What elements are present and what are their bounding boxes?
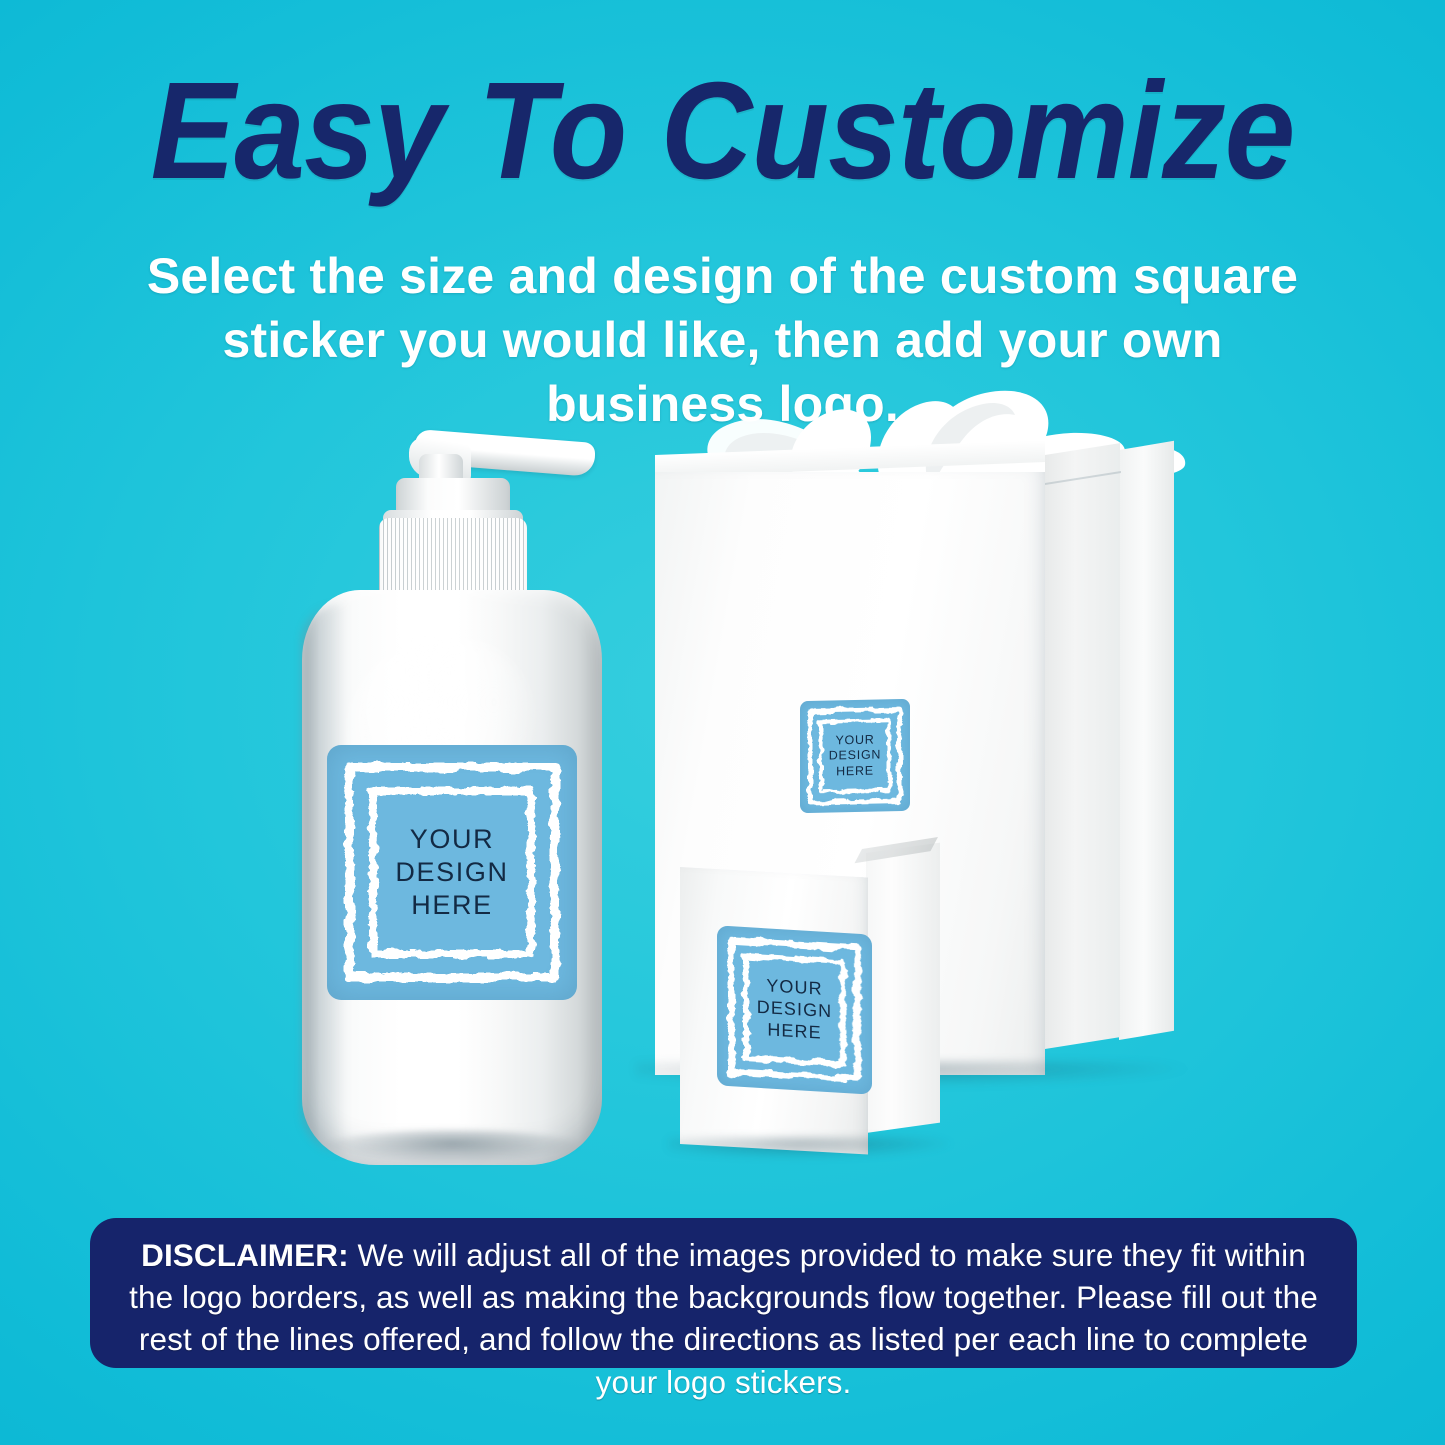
sticker-text-bottle: YOUR DESIGN HERE bbox=[395, 823, 508, 922]
gift-box-side-back bbox=[1119, 441, 1174, 1040]
sticker-line-3: HERE bbox=[411, 890, 493, 920]
small-box-side-face bbox=[866, 843, 940, 1133]
sticker-line-2: DESIGN bbox=[395, 857, 508, 887]
bottle-base-shadow bbox=[325, 1130, 581, 1164]
sticker-line-2: DESIGN bbox=[829, 748, 881, 763]
disclaimer-text: DISCLAIMER: We will adjust all of the im… bbox=[124, 1234, 1323, 1403]
small-box-ground-shadow bbox=[668, 1137, 958, 1159]
sticker-line-2: DESIGN bbox=[757, 997, 833, 1021]
disclaimer-banner: DISCLAIMER: We will adjust all of the im… bbox=[90, 1218, 1357, 1368]
sticker-label-giftbox[interactable]: YOUR DESIGN HERE bbox=[800, 699, 910, 813]
disclaimer-label: DISCLAIMER: bbox=[141, 1237, 349, 1273]
sticker-line-1: YOUR bbox=[766, 975, 822, 998]
sticker-line-1: YOUR bbox=[410, 824, 495, 854]
poster-canvas: Easy To Customize Select the size and de… bbox=[0, 0, 1445, 1445]
sticker-label-smallbox[interactable]: YOUR DESIGN HERE bbox=[717, 925, 872, 1094]
gift-box-side-front bbox=[1045, 443, 1120, 1049]
sticker-text-smallbox: YOUR DESIGN HERE bbox=[757, 975, 833, 1045]
sticker-line-3: HERE bbox=[836, 763, 874, 778]
sticker-label-bottle[interactable]: YOUR DESIGN HERE bbox=[327, 745, 577, 1000]
page-title: Easy To Customize bbox=[58, 62, 1387, 200]
sticker-line-3: HERE bbox=[767, 1019, 821, 1042]
sticker-text-giftbox: YOUR DESIGN HERE bbox=[829, 733, 881, 780]
sticker-line-1: YOUR bbox=[835, 733, 874, 748]
